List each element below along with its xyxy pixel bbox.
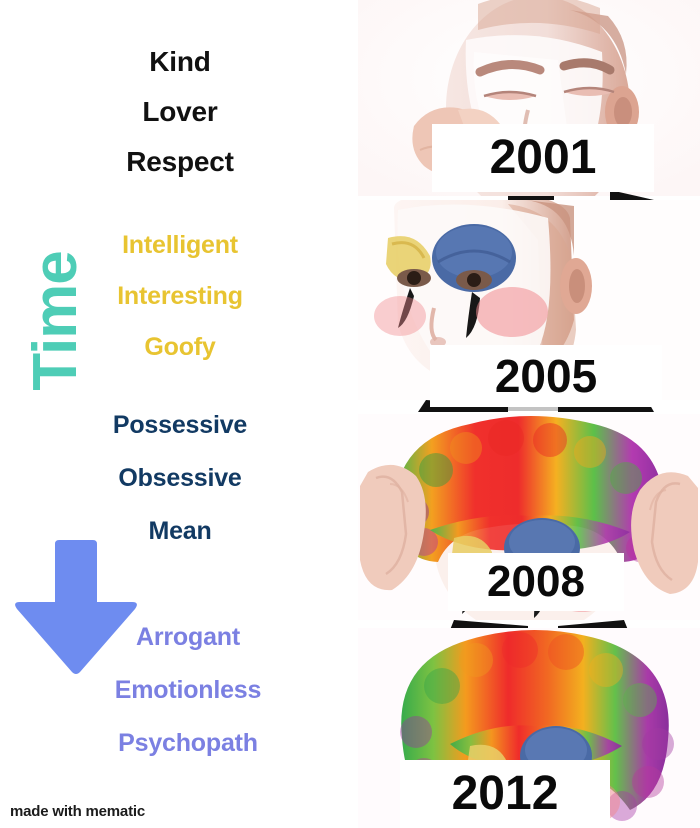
trait-kind: Kind xyxy=(0,48,360,76)
trait-interesting: Interesting xyxy=(0,284,360,309)
year-label-2001: 2001 xyxy=(432,124,654,192)
year-label-2012: 2012 xyxy=(400,760,610,828)
meme-canvas: Time Kind Lover Respect Intelligent Inte… xyxy=(0,0,700,828)
trait-goofy: Goofy xyxy=(0,335,360,360)
trait-group-2005: Intelligent Interesting Goofy xyxy=(0,233,360,386)
watermark-mematic: made with mematic xyxy=(10,803,145,820)
year-label-2005: 2005 xyxy=(430,345,662,407)
trait-obsessive: Obsessive xyxy=(0,466,360,491)
trait-psychopath: Psychopath xyxy=(8,731,368,756)
trait-emotionless: Emotionless xyxy=(8,678,368,703)
trait-respect: Respect xyxy=(0,148,360,176)
trait-group-2001: Kind Lover Respect xyxy=(0,48,360,198)
trait-column: Time Kind Lover Respect Intelligent Inte… xyxy=(0,0,360,828)
trait-possessive: Possessive xyxy=(0,413,360,438)
trait-lover: Lover xyxy=(0,98,360,126)
year-label-2008: 2008 xyxy=(448,553,624,611)
down-arrow-icon xyxy=(8,538,144,678)
trait-intelligent: Intelligent xyxy=(0,233,360,258)
